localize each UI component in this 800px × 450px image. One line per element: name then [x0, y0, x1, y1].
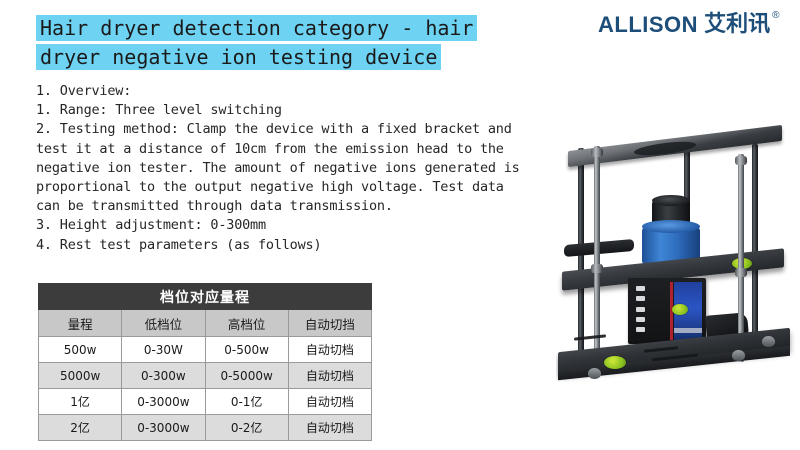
page-title: Hair dryer detection category - hair dry… — [36, 14, 536, 72]
table-title-row: 档位对应量程 — [39, 284, 372, 310]
post-collar-right-top — [735, 156, 747, 165]
post-collar-right-mid — [735, 268, 747, 277]
table-header-row: 量程 低档位 高档位 自动切挡 — [39, 310, 372, 337]
spec-table: 档位对应量程 量程 低档位 高档位 自动切挡 500w 0-30W 0-500w… — [38, 283, 372, 441]
column-header-auto-switch: 自动切挡 — [288, 310, 371, 337]
overview-text-block: 1. Overview: 1. Range: Three level switc… — [36, 82, 548, 255]
brand-logo-chinese: 艾利讯 — [704, 12, 770, 38]
registered-trademark-icon: ® — [772, 11, 779, 21]
cell-low-gear: 0-3000w — [122, 389, 205, 415]
frame-post-front-right — [738, 154, 744, 362]
cell-high-gear: 0-5000w — [205, 363, 288, 389]
overview-line-7: can be transmitted through data transmis… — [36, 197, 548, 216]
cell-high-gear: 0-2亿 — [205, 415, 288, 441]
cell-auto-switch: 自动切档 — [288, 363, 371, 389]
instrument-display-subtitle — [674, 328, 702, 333]
overview-line-8: 3. Height adjustment: 0-300mm — [36, 216, 548, 235]
cell-low-gear: 0-30W — [122, 337, 205, 363]
frame-foot-rear-right — [762, 336, 775, 347]
overview-line-3: 2. Testing method: Clamp the device with… — [36, 120, 548, 139]
column-header-low-gear: 低档位 — [122, 310, 205, 337]
overview-line-5: negative ion tester. The amount of negat… — [36, 159, 548, 178]
instrument-label-char — [636, 296, 645, 301]
column-header-high-gear: 高档位 — [205, 310, 288, 337]
table-row: 2亿 0-3000w 0-2亿 自动切档 — [39, 415, 372, 441]
brand-logo-latin: ALLISON — [598, 12, 698, 38]
frame-foot-left — [588, 368, 601, 379]
table-row: 1亿 0-3000w 0-1亿 自动切档 — [39, 389, 372, 415]
marker-dot-base — [604, 356, 626, 369]
emitter-housing-blue-top — [642, 220, 700, 233]
overview-line-1: 1. Overview: — [36, 82, 548, 101]
instrument-label-char — [636, 286, 645, 291]
cell-range: 500w — [39, 337, 122, 363]
cell-range: 1亿 — [39, 389, 122, 415]
column-header-range: 量程 — [39, 310, 122, 337]
overview-line-9: 4. Rest test parameters (as follows) — [36, 236, 548, 255]
post-collar-left-mid — [591, 264, 603, 273]
post-collar-left-top — [591, 148, 603, 157]
table-row: 500w 0-30W 0-500w 自动切档 — [39, 337, 372, 363]
table-row: 5000w 0-300w 0-5000w 自动切档 — [39, 363, 372, 389]
cell-auto-switch: 自动切档 — [288, 337, 371, 363]
frame-foot-right — [732, 350, 745, 361]
brand-logo: ALLISON 艾利讯 ® — [598, 12, 779, 38]
instrument-label-char — [636, 307, 645, 312]
instrument-label-char — [636, 317, 645, 322]
instrument-label-char — [636, 327, 645, 332]
cell-range: 5000w — [39, 363, 122, 389]
page-title-line-1: Hair dryer detection category - hair — [36, 15, 477, 41]
cell-auto-switch: 自动切档 — [288, 415, 371, 441]
table-title: 档位对应量程 — [39, 284, 372, 310]
marker-dot-instrument — [672, 304, 688, 315]
product-photo-inner — [556, 118, 800, 418]
overview-line-4: test it at a distance of 10cm from the e… — [36, 140, 548, 159]
cell-low-gear: 0-3000w — [122, 415, 205, 441]
cell-low-gear: 0-300w — [122, 363, 205, 389]
frame-post-rear-right — [752, 144, 758, 334]
cell-auto-switch: 自动切档 — [288, 389, 371, 415]
slide-page: ALLISON 艾利讯 ® Hair dryer detection categ… — [0, 0, 800, 450]
instrument-label-text — [636, 286, 648, 332]
page-title-line-2: dryer negative ion testing device — [36, 44, 441, 70]
overview-line-2: 1. Range: Three level switching — [36, 101, 548, 120]
overview-line-6: proportional to the output negative high… — [36, 178, 548, 197]
frame-post-front-left — [594, 146, 600, 362]
cell-high-gear: 0-1亿 — [205, 389, 288, 415]
cell-range: 2亿 — [39, 415, 122, 441]
cell-high-gear: 0-500w — [205, 337, 288, 363]
emitter-cap-top — [652, 195, 690, 206]
product-photo — [556, 118, 800, 418]
